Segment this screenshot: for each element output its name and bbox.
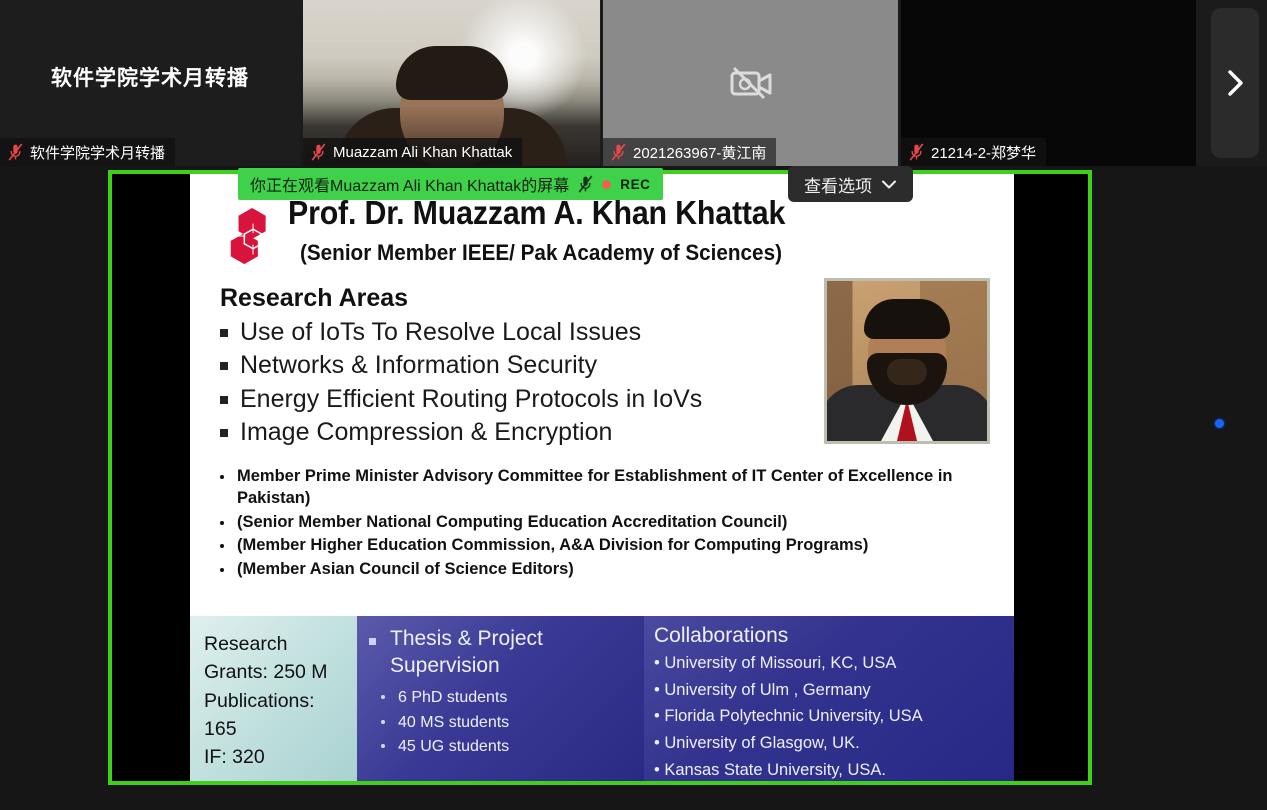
square-bullet-icon bbox=[369, 638, 376, 645]
mic-muted-icon bbox=[909, 143, 924, 161]
metric-line: IF: 320 bbox=[204, 743, 357, 771]
list-item: (Member Higher Education Commission, A&A… bbox=[220, 535, 992, 557]
camera-off-icon bbox=[728, 64, 774, 102]
metric-line: Research bbox=[204, 630, 357, 658]
mic-muted-icon bbox=[8, 143, 23, 161]
dot-bullet-icon bbox=[220, 475, 224, 479]
supervision-heading-line2: Supervision bbox=[390, 654, 500, 677]
research-area-text: Networks & Information Security bbox=[240, 349, 597, 382]
list-item: (Senior Member National Computing Educat… bbox=[220, 512, 992, 534]
view-options-button[interactable]: 查看选项 bbox=[788, 166, 913, 202]
metric-line: Publications: bbox=[204, 687, 357, 715]
presentation-slide: Prof. Dr. Muazzam A. Khan Khattak (Senio… bbox=[190, 174, 1014, 781]
dot-bullet-icon bbox=[381, 720, 385, 724]
chevron-right-icon bbox=[1225, 67, 1245, 99]
remote-pointer-dot bbox=[1215, 419, 1224, 428]
research-areas-list: Use of IoTs To Resolve Local Issues Netw… bbox=[220, 316, 702, 449]
participant-tile-1[interactable]: 软件学院学术月转播 软件学院学术月转播 bbox=[0, 0, 300, 166]
mic-muted-icon bbox=[611, 143, 626, 161]
list-item: University of Ulm , Germany bbox=[654, 677, 1014, 704]
participant-tile-2[interactable]: Muazzam Ali Khan Khattak bbox=[303, 0, 600, 166]
screen-share-notification-bar: 你正在观看Muazzam Ali Khan Khattak的屏幕 REC bbox=[238, 168, 663, 200]
chevron-down-icon bbox=[881, 179, 897, 190]
list-item: 45 UG students bbox=[357, 735, 644, 760]
next-page-button[interactable] bbox=[1211, 8, 1259, 158]
collaborations-list: University of Missouri, KC, USA Universi… bbox=[654, 650, 1014, 781]
participant-name: 21214-2-郑梦华 bbox=[931, 142, 1036, 163]
list-item: Use of IoTs To Resolve Local Issues bbox=[220, 316, 702, 349]
zoom-meeting-window: 软件学院学术月转播 软件学院学术月转播 bbox=[0, 0, 1267, 810]
list-item: Energy Efficient Routing Protocols in Io… bbox=[220, 383, 702, 416]
metric-line: 165 bbox=[204, 715, 357, 743]
participant-name-bar: 21214-2-郑梦华 bbox=[901, 138, 1046, 166]
participant-tile-3[interactable]: 2021263967-黄江南 bbox=[603, 0, 898, 166]
dot-bullet-icon bbox=[220, 521, 224, 525]
participant-name: 软件学院学术月转播 bbox=[30, 142, 165, 163]
slide-subtitle: (Senior Member IEEE/ Pak Academy of Scie… bbox=[300, 240, 782, 266]
recording-indicator-dot bbox=[602, 180, 611, 189]
dot-bullet-icon bbox=[381, 695, 385, 699]
research-area-text: Use of IoTs To Resolve Local Issues bbox=[240, 316, 641, 349]
square-bullet-icon bbox=[220, 429, 228, 437]
speaker-portrait-photo bbox=[824, 278, 990, 444]
list-item: University of Glasgow, UK. bbox=[654, 730, 1014, 757]
memberships-list: Member Prime Minister Advisory Committee… bbox=[220, 466, 992, 583]
membership-text: (Member Higher Education Commission, A&A… bbox=[237, 535, 868, 557]
collaborations-heading: Collaborations bbox=[654, 624, 1014, 648]
tile-display-title: 软件学院学术月转播 bbox=[0, 62, 300, 92]
membership-text: (Member Asian Council of Science Editors… bbox=[237, 559, 574, 581]
research-areas-heading: Research Areas bbox=[220, 284, 408, 313]
membership-text: (Senior Member National Computing Educat… bbox=[237, 512, 787, 534]
list-item: Kansas State University, USA. bbox=[654, 757, 1014, 781]
participant-name-bar: Muazzam Ali Khan Khattak bbox=[303, 138, 522, 166]
supervision-heading: Thesis & Project Supervision bbox=[357, 626, 644, 680]
membership-text: Member Prime Minister Advisory Committee… bbox=[237, 466, 992, 510]
list-item: 6 PhD students bbox=[357, 686, 644, 711]
list-item: Networks & Information Security bbox=[220, 349, 702, 382]
square-bullet-icon bbox=[220, 329, 228, 337]
mic-muted-icon bbox=[311, 143, 326, 161]
panel-supervision: Thesis & Project Supervision 6 PhD stude… bbox=[357, 616, 644, 781]
dot-bullet-icon bbox=[220, 568, 224, 572]
supervision-list: 6 PhD students 40 MS students 45 UG stud… bbox=[357, 686, 644, 760]
panel-research-metrics: Research Grants: 250 M Publications: 165… bbox=[190, 616, 357, 781]
list-item: Member Prime Minister Advisory Committee… bbox=[220, 466, 992, 510]
panel-collaborations: Collaborations University of Missouri, K… bbox=[644, 616, 1014, 781]
list-item: 40 MS students bbox=[357, 711, 644, 736]
list-item: Florida Polytechnic University, USA bbox=[654, 703, 1014, 730]
list-item: (Member Asian Council of Science Editors… bbox=[220, 559, 992, 581]
supervision-item-text: 6 PhD students bbox=[398, 686, 507, 711]
square-bullet-icon bbox=[220, 396, 228, 404]
slide-bottom-panels: Research Grants: 250 M Publications: 165… bbox=[190, 616, 1014, 781]
recording-label: REC bbox=[620, 177, 650, 192]
square-bullet-icon bbox=[220, 362, 228, 370]
hexagon-logo-icon bbox=[223, 206, 285, 268]
metric-line: Grants: 250 M bbox=[204, 658, 357, 686]
participant-name-bar: 2021263967-黄江南 bbox=[603, 138, 776, 166]
list-item: University of Missouri, KC, USA bbox=[654, 650, 1014, 677]
participant-filmstrip: 软件学院学术月转播 软件学院学术月转播 bbox=[0, 0, 1267, 166]
participant-name: 2021263967-黄江南 bbox=[633, 142, 766, 163]
participant-name: Muazzam Ali Khan Khattak bbox=[333, 144, 512, 161]
list-item: Image Compression & Encryption bbox=[220, 416, 702, 449]
research-area-text: Image Compression & Encryption bbox=[240, 416, 612, 449]
dot-bullet-icon bbox=[381, 744, 385, 748]
view-options-label: 查看选项 bbox=[804, 172, 872, 197]
shared-screen-region: Prof. Dr. Muazzam A. Khan Khattak (Senio… bbox=[108, 170, 1092, 785]
supervision-heading-line1: Thesis & Project bbox=[390, 627, 543, 650]
dot-bullet-icon bbox=[220, 544, 224, 548]
research-area-text: Energy Efficient Routing Protocols in Io… bbox=[240, 383, 702, 416]
screen-share-notification-text: 你正在观看Muazzam Ali Khan Khattak的屏幕 bbox=[250, 172, 569, 196]
participant-name-bar: 软件学院学术月转播 bbox=[0, 138, 175, 166]
supervision-item-text: 40 MS students bbox=[398, 711, 509, 736]
mic-muted-icon bbox=[578, 175, 593, 193]
participant-tile-4[interactable]: 21214-2-郑梦华 bbox=[901, 0, 1196, 166]
supervision-item-text: 45 UG students bbox=[398, 735, 509, 760]
